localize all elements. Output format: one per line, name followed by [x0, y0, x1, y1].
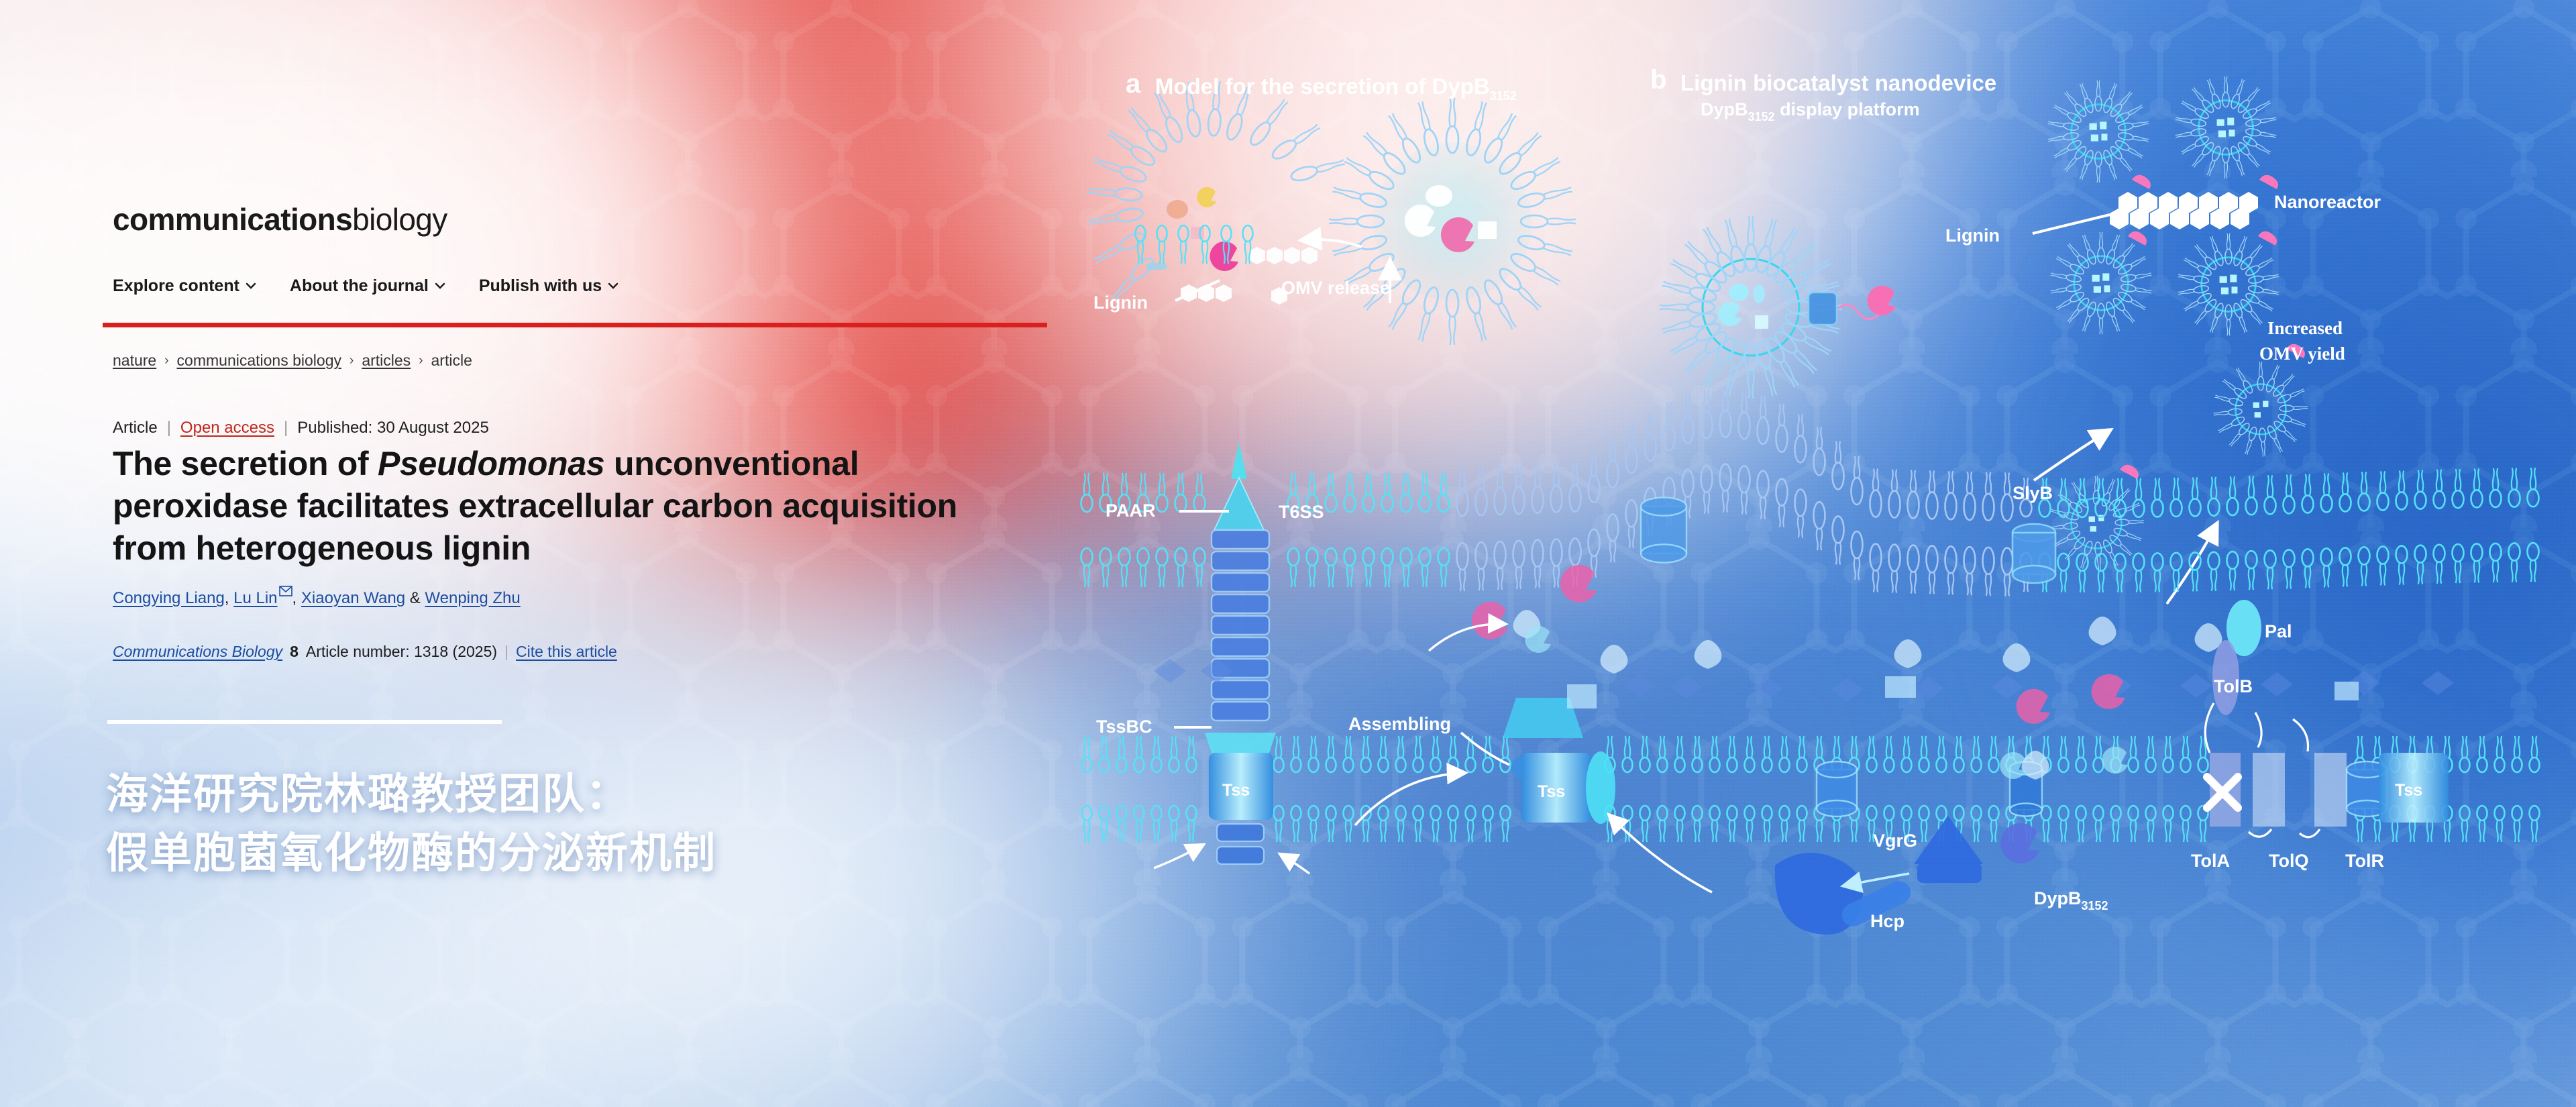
citation-article-number: Article number: 1318 (2025) — [306, 643, 497, 661]
breadcrumb-item-articles[interactable]: articles — [362, 352, 411, 370]
label-paar: PAAR — [1106, 500, 1156, 521]
nav-item-about-the-journal[interactable]: About the journal — [290, 276, 444, 296]
hero-banner: communicationsbiology Explore content Ab… — [0, 0, 2576, 1107]
arrow-vesicle-burst — [1303, 240, 1362, 247]
article-metadata-panel: communicationsbiology Explore content Ab… — [0, 0, 1087, 1107]
nanoparticle-display-platform — [1660, 216, 1896, 399]
label-dypb-main: DypB3152 — [2034, 888, 2108, 912]
author-separator: , — [225, 589, 233, 607]
citation-journal-name[interactable]: Communications Biology — [113, 643, 282, 661]
citation-volume: 8 — [290, 643, 299, 661]
label-tolr: TolR — [2345, 851, 2384, 871]
author-link-3[interactable]: Xiaoyan Wang — [301, 589, 405, 607]
masthead-light: biology — [352, 202, 447, 237]
breadcrumb-separator: › — [419, 354, 423, 368]
panel-b-letter: b — [1650, 65, 1666, 95]
label-tss-mid: Tss — [1538, 782, 1565, 801]
label-pal: Pal — [2265, 621, 2292, 641]
page-title: The secretion of Pseudomonas unconventio… — [113, 443, 985, 570]
label-tssbc: TssBC — [1096, 717, 1152, 737]
label-assembling-text: Assembling — [1348, 714, 1451, 734]
slyb-complex: SlyB — [2012, 483, 2055, 583]
meta-divider: | — [284, 419, 288, 437]
label-increased-line-2: OMV yield — [2259, 344, 2345, 364]
label-tolb: TolB — [2214, 676, 2253, 696]
article-type-label: Article — [113, 419, 158, 437]
author-last-join: & — [405, 589, 425, 607]
breadcrumb-item-communications-biology[interactable]: communications biology — [177, 352, 341, 370]
label-tolq: TolQ — [2269, 851, 2308, 871]
article-meta-row: Article | Open access | Published: 30 Au… — [113, 419, 489, 437]
author-link-1[interactable]: Congying Liang — [113, 589, 225, 607]
envelope-icon[interactable] — [279, 582, 292, 593]
chevron-down-icon — [608, 280, 617, 290]
label-tss-right: Tss — [2395, 781, 2422, 800]
breadcrumb-item-nature[interactable]: nature — [113, 352, 156, 370]
t6ss-apparatus: Tss PAAR T6SS TssBC — [1096, 443, 1324, 874]
label-increased-line-1: Increased — [2267, 318, 2343, 338]
label-omv-release-text: OMV release — [1281, 278, 1390, 298]
panel-a-heading: Model for the secretion of DypB3152 — [1155, 74, 1517, 103]
author-separator: , — [292, 589, 301, 607]
citation-line: Communications Biology8Article number: 1… — [113, 643, 617, 661]
nav-label-explore-content: Explore content — [113, 276, 239, 296]
chevron-down-icon — [435, 280, 444, 290]
label-omv-release: OMV release — [1281, 262, 1390, 303]
nav-underline-rule — [103, 323, 1047, 327]
label-slyb: SlyB — [2012, 483, 2053, 503]
author-link-4[interactable]: Wenping Zhu — [425, 589, 520, 607]
label-lignin-b-text: Lignin — [1945, 225, 2000, 246]
chinese-headline-line-2: 假单胞菌氧化物酶的分泌新机制 — [106, 824, 1045, 883]
label-display-platform: DypB3152 display platform — [1701, 99, 1920, 123]
breadcrumb: nature › communications biology › articl… — [113, 352, 472, 370]
scientific-figure: Lignin — [1073, 0, 2576, 1107]
primary-navigation: Explore content About the journal Publis… — [113, 276, 617, 296]
masthead-bold: communications — [113, 202, 352, 237]
author-link-2[interactable]: Lu Lin — [233, 589, 277, 607]
panel-b-heading: Lignin biocatalyst nanodevice — [1680, 70, 1996, 95]
breadcrumb-separator: › — [350, 354, 354, 368]
label-nanoreactor-text: Nanoreactor — [2274, 192, 2381, 212]
panel-a-letter: a — [1126, 69, 1141, 99]
nanoreactor-lignin-chain: Lignin Nanoreactor — [1945, 192, 2381, 246]
omv-vesicle-bursting — [1087, 81, 1346, 305]
omv-vesicle-intact — [1329, 98, 1576, 345]
tss-channel-mid: Tss — [1521, 751, 1712, 892]
label-vgrg: VgrG — [1873, 831, 1917, 851]
nav-label-about-the-journal: About the journal — [290, 276, 429, 296]
chevron-down-icon — [246, 280, 255, 290]
meta-divider: | — [167, 419, 171, 437]
label-tss-left: Tss — [1222, 781, 1250, 800]
nav-item-explore-content[interactable]: Explore content — [113, 276, 255, 296]
citation-divider: | — [504, 643, 508, 661]
effector-proteins: VgrG Hcp DypB3152 — [1775, 816, 2108, 935]
open-access-badge[interactable]: Open access — [180, 419, 274, 437]
label-t6ss: T6SS — [1279, 502, 1324, 522]
section-divider-rule — [107, 720, 502, 724]
label-lignin-a-text: Lignin — [1093, 293, 1148, 313]
nav-label-publish-with-us: Publish with us — [479, 276, 602, 296]
title-part-1: The secretion of — [113, 445, 378, 482]
breadcrumb-separator: › — [164, 354, 168, 368]
label-hcp: Hcp — [1870, 911, 1904, 931]
nav-item-publish-with-us[interactable]: Publish with us — [479, 276, 617, 296]
title-italic-species: Pseudomonas — [378, 445, 604, 482]
chinese-headline: 海洋研究院林璐教授团队： 假单胞菌氧化物酶的分泌新机制 — [106, 765, 1045, 883]
author-list: Congying Liang, Lu Lin, Xiaoyan Wang & W… — [113, 589, 521, 608]
journal-masthead[interactable]: communicationsbiology — [113, 201, 447, 238]
figure-canvas: Lignin — [1073, 0, 2576, 1107]
breadcrumb-item-article: article — [431, 352, 472, 370]
published-date: Published: 30 August 2025 — [297, 419, 489, 437]
cite-this-article-link[interactable]: Cite this article — [516, 643, 617, 661]
label-tola: TolA — [2191, 851, 2230, 871]
chinese-headline-line-1: 海洋研究院林璐教授团队： — [106, 765, 1045, 824]
